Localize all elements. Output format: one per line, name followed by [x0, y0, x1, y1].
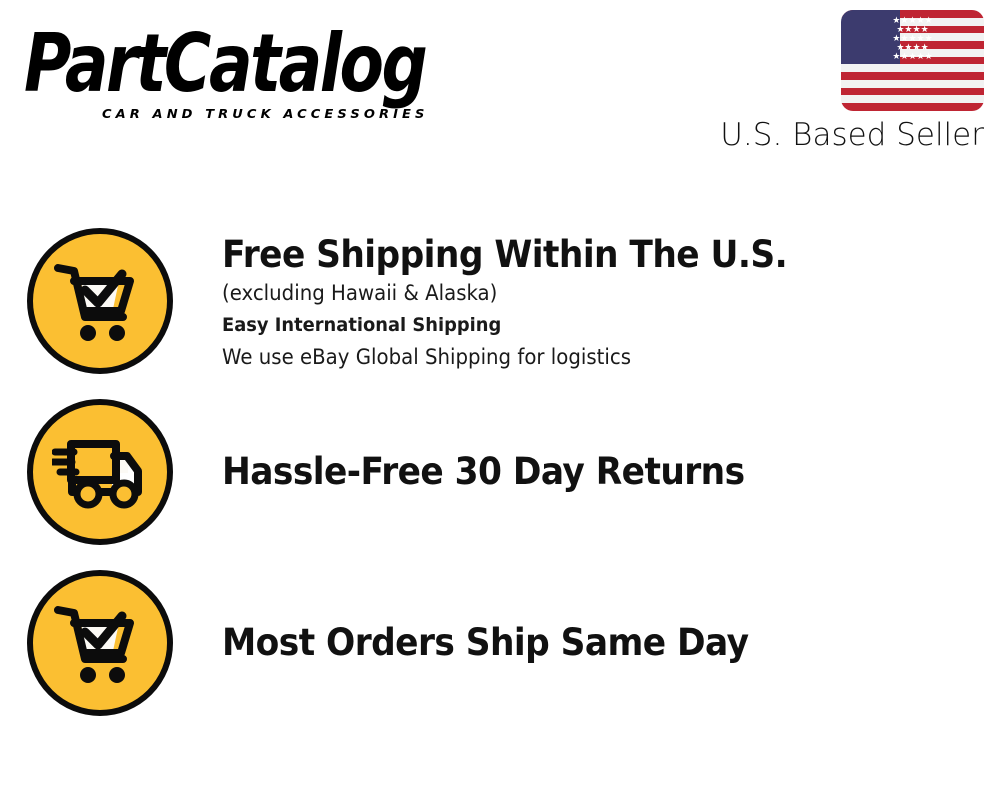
feature-title: Most Orders Ship Same Day: [222, 620, 927, 666]
feature-text-block: Free Shipping Within The U.S. (excluding…: [200, 230, 1000, 372]
feature-text-block: Hassle-Free 30 Day Returns: [200, 449, 1000, 495]
us-flag-icon: ★★★★★ ★★★★ ★★★★★ ★★★★ ★★★★★: [841, 10, 984, 111]
feature-title: Hassle-Free 30 Day Returns: [222, 449, 927, 495]
feature-subtitle-logistics: We use eBay Global Shipping for logistic…: [222, 342, 935, 372]
brand-logo[interactable]: PartCatalog CAR AND TRUCK ACCESSORIES: [22, 22, 492, 117]
shopping-cart-check-icon: [27, 570, 173, 716]
brand-tagline: CAR AND TRUCK ACCESSORIES: [102, 108, 429, 122]
feature-title: Free Shipping Within The U.S.: [222, 232, 927, 278]
feature-text-block: Most Orders Ship Same Day: [200, 620, 1000, 666]
feature-subtitle-international: Easy International Shipping: [222, 308, 935, 342]
feature-subtitle-exclusion: (excluding Hawaii & Alaska): [222, 278, 935, 308]
feature-row: Free Shipping Within The U.S. (excluding…: [0, 215, 1000, 386]
us-based-seller-label: U.S. Based Seller: [714, 117, 984, 153]
feature-row: Most Orders Ship Same Day: [0, 557, 1000, 728]
shopping-cart-check-icon: [27, 228, 173, 374]
us-based-seller-badge: ★★★★★ ★★★★ ★★★★★ ★★★★ ★★★★★ U.S. Based S…: [714, 10, 984, 153]
feature-row: Hassle-Free 30 Day Returns: [0, 386, 1000, 557]
feature-list: Free Shipping Within The U.S. (excluding…: [0, 215, 1000, 728]
feature-icon-wrapper: [0, 399, 200, 545]
feature-icon-wrapper: [0, 570, 200, 716]
brand-wordmark: PartCatalog: [24, 24, 425, 105]
delivery-truck-icon: [27, 399, 173, 545]
feature-icon-wrapper: [0, 228, 200, 374]
page-header: PartCatalog CAR AND TRUCK ACCESSORIES ★★…: [0, 0, 1000, 215]
